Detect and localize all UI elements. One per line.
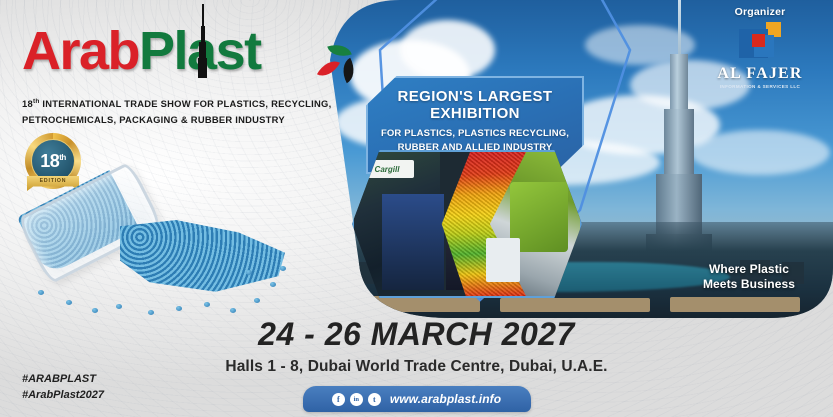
logo-wordmark: ArabPlast bbox=[22, 24, 261, 78]
al-fajer-name: AL FAJER bbox=[701, 66, 819, 82]
show-description: 18th INTERNATIONAL TRADE SHOW FOR PLASTI… bbox=[22, 96, 342, 128]
event-venue: Halls 1 - 8, Dubai World Trade Centre, D… bbox=[0, 358, 833, 376]
linkedin-icon[interactable]: in bbox=[350, 393, 363, 406]
website-url[interactable]: www.arabplast.info bbox=[390, 392, 501, 406]
website-bar[interactable]: f in t www.arabplast.info bbox=[303, 386, 531, 412]
moulding-machine bbox=[382, 194, 444, 290]
event-dates: 24 - 26 MARCH 2027 bbox=[0, 316, 833, 353]
facebook-icon[interactable]: f bbox=[332, 393, 345, 406]
arabplast-event-banner: REGION'S LARGEST EXHIBITION FOR PLASTICS… bbox=[0, 0, 833, 417]
show-description-rest: INTERNATIONAL TRADE SHOW FOR PLASTICS, R… bbox=[22, 98, 331, 125]
tradeshow-hex-photo: Cargill bbox=[352, 150, 582, 298]
plastic-pellets-illustration bbox=[8, 178, 288, 318]
right-tagline-line-2: Meets Business bbox=[689, 277, 809, 292]
right-tagline: Where Plastic Meets Business bbox=[689, 262, 809, 292]
twitter-icon[interactable]: t bbox=[368, 393, 381, 406]
headline-line-2: EXHIBITION bbox=[430, 106, 520, 123]
show-description-prefix: 18 bbox=[22, 98, 33, 109]
spilled-pellets bbox=[120, 220, 285, 298]
headline-subline-1: FOR PLASTICS, PLASTICS RECYCLING, bbox=[381, 128, 569, 141]
white-equipment-box bbox=[486, 238, 520, 282]
three-leaves-icon bbox=[318, 43, 360, 87]
hashtag-primary: #ARABPLAST bbox=[22, 372, 104, 388]
arabplast-logo: ArabPlast bbox=[22, 24, 261, 78]
badge-number: 18th bbox=[40, 151, 66, 172]
al-fajer-logo-mark-icon bbox=[737, 22, 783, 64]
hashtags: #ARABPLAST #ArabPlast2027 bbox=[22, 372, 104, 404]
hashtag-secondary: #ArabPlast2027 bbox=[22, 388, 104, 404]
organizer-block: Organizer AL FAJER INFORMATION & SERVICE… bbox=[701, 6, 819, 89]
logo-word-arab: Arab bbox=[22, 21, 139, 81]
burj-khalifa-icon bbox=[198, 4, 207, 78]
headline-line-1: REGION'S LARGEST bbox=[398, 89, 553, 106]
right-tagline-line-1: Where Plastic bbox=[689, 262, 809, 277]
al-fajer-subtitle: INFORMATION & SERVICES LLC bbox=[701, 84, 819, 89]
show-description-sup: th bbox=[33, 98, 40, 105]
cloud bbox=[400, 20, 495, 80]
organizer-label: Organizer bbox=[701, 6, 819, 18]
